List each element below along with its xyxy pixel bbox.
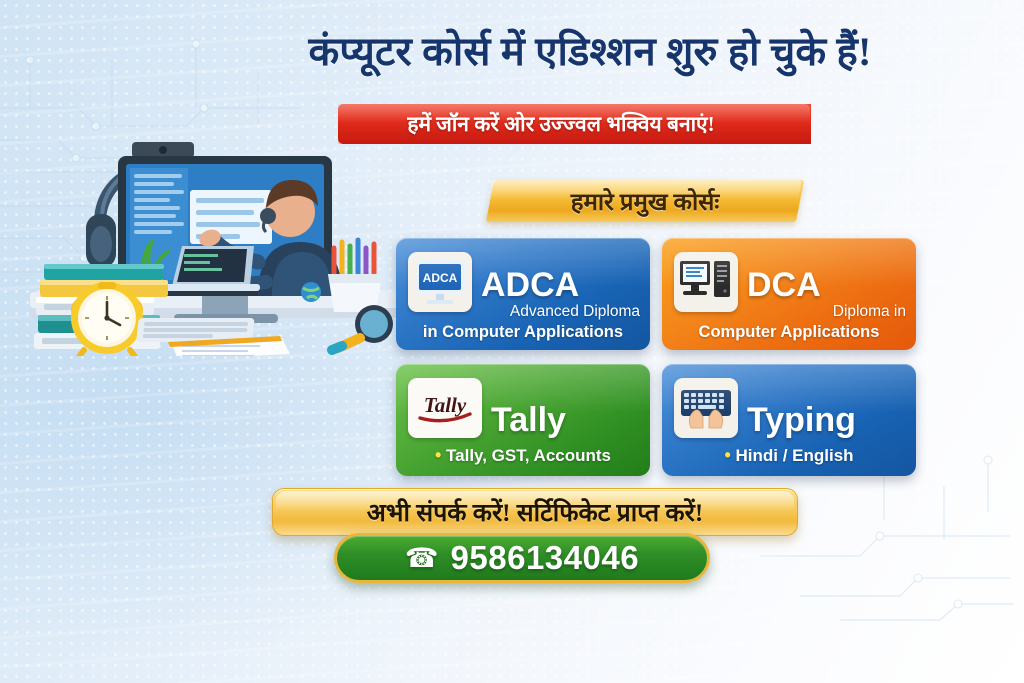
card-text-block: DCA Diploma in	[747, 268, 906, 321]
svg-text:ADCA: ADCA	[423, 271, 458, 285]
course-card-row-2: Tally Tally • Tally, GST, Accounts	[396, 364, 916, 476]
card-subtitle-line1: Advanced Diploma	[481, 303, 640, 321]
card-title: ADCA	[481, 268, 640, 302]
cta-label: अभी संपर्क करें! सर्टिफिकेट प्राप्त करें…	[367, 495, 703, 529]
phone-number-text: 9586134046	[451, 539, 640, 577]
course-card-row-1: ADCA ADCA Advanced Diploma in Computer A…	[396, 238, 916, 350]
globe	[301, 282, 321, 302]
page-title: कंप्यूटर कोर्स में एडिश्शन शुरु हो चुके …	[240, 28, 940, 75]
course-card-adca[interactable]: ADCA ADCA Advanced Diploma in Computer A…	[396, 238, 650, 350]
tally-logo-icon: Tally	[408, 378, 482, 438]
card-text-block: Typing	[747, 403, 906, 438]
course-card-tally[interactable]: Tally Tally • Tally, GST, Accounts	[396, 364, 650, 476]
courses-heading-label: हमारे प्रमुख कोर्सः	[490, 180, 800, 222]
card-bullet-line: • Hindi / English	[672, 445, 906, 466]
pencil-cup	[328, 240, 382, 312]
phone-number-button[interactable]: ☎ 9586134046	[334, 533, 710, 583]
card-subtitle-line2: in Computer Applications	[406, 323, 640, 342]
keyboard-hands-icon	[674, 378, 738, 438]
card-subtitle-line2: Computer Applications	[672, 323, 906, 342]
card-bullet-line: • Tally, GST, Accounts	[406, 445, 640, 466]
desktop-tower-icon	[674, 252, 738, 312]
course-card-dca[interactable]: DCA Diploma in Computer Applications	[662, 238, 916, 350]
bullet-dot-icon: •	[724, 445, 730, 465]
card-bullet-text: Tally, GST, Accounts	[446, 446, 611, 465]
svg-text:Tally: Tally	[424, 393, 467, 417]
courses-heading-banner: हमारे प्रमुख कोर्सः	[490, 180, 800, 222]
poster-canvas: कंप्यूटर कोर्स में एडिश्शन शुरु हो चुके …	[0, 0, 1024, 683]
card-title: DCA	[747, 268, 906, 302]
monitor-adca-icon: ADCA	[408, 252, 472, 312]
card-title: Typing	[747, 403, 906, 437]
card-text-block: ADCA Advanced Diploma	[481, 268, 640, 321]
bullet-dot-icon: •	[435, 445, 441, 465]
course-card-grid: ADCA ADCA Advanced Diploma in Computer A…	[396, 238, 916, 490]
card-bullet-text: Hindi / English	[735, 446, 853, 465]
card-text-block: Tally	[491, 403, 640, 438]
ribbon-label: हमें जॉॅन करें ओर उज्ज्वल भक्विय बनाएं!	[338, 104, 810, 144]
card-title: Tally	[491, 403, 640, 437]
course-card-typing[interactable]: Typing • Hindi / English	[662, 364, 916, 476]
contact-cta-banner[interactable]: अभी संपर्क करें! सर्टिफिकेट प्राप्त करें…	[272, 488, 798, 536]
card-subtitle-line1: Diploma in	[747, 303, 906, 321]
phone-handset-icon: ☎	[405, 545, 439, 572]
join-us-ribbon: हमें जॉॅन करें ओर उज्ज्वल भक्विय बनाएं!	[338, 104, 810, 144]
